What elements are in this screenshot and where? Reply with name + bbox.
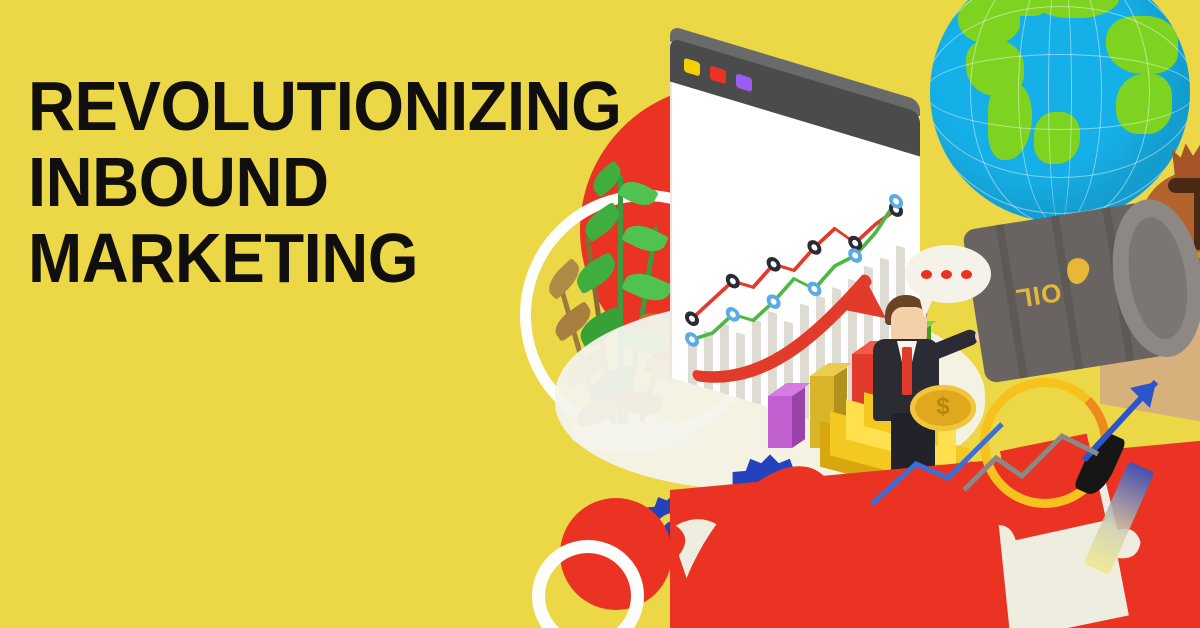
chart-marker xyxy=(769,295,779,308)
chart-marker xyxy=(728,308,738,321)
chart-marker xyxy=(687,333,697,346)
page-title: REVOLUTIONIZING INBOUND MARKETING xyxy=(28,68,688,296)
speech-bubble xyxy=(905,245,991,303)
chart-marker xyxy=(850,249,860,262)
chart-marker xyxy=(850,237,860,250)
window-button-maximize-icon[interactable] xyxy=(736,73,752,92)
bubble-dot xyxy=(921,270,932,279)
dollar-symbol: $ xyxy=(910,393,976,421)
chart-marker xyxy=(809,241,819,254)
headline-line-3: MARKETING xyxy=(28,220,642,296)
chart-marker xyxy=(809,282,819,295)
window-button-close-icon[interactable] xyxy=(710,66,726,85)
headline-line-2: INBOUND xyxy=(28,144,642,220)
bubble-dot xyxy=(961,270,972,279)
businessman-tie xyxy=(902,347,912,395)
chart-marker xyxy=(769,258,779,271)
chart-marker xyxy=(728,275,738,288)
banner-root: REVOLUTIONIZING INBOUND MARKETING xyxy=(0,0,1200,628)
bubble-dot xyxy=(941,270,952,279)
blue-diagonal-decor xyxy=(870,420,1010,510)
chart-marker xyxy=(687,312,697,325)
chart-marker xyxy=(891,195,901,208)
headline-line-1: REVOLUTIONIZING xyxy=(28,68,642,144)
